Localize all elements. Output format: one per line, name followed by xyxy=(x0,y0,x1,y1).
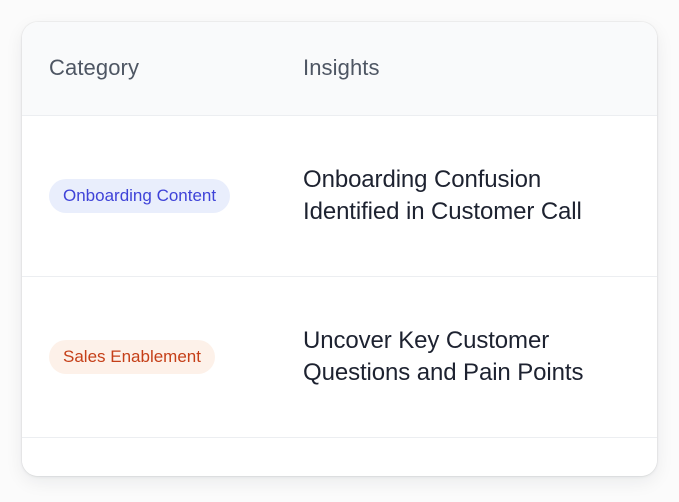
insight-title: Uncover Key Customer Questions and Pain … xyxy=(303,325,615,388)
table-row-empty xyxy=(22,438,657,476)
status-badge[interactable]: Onboarding Content xyxy=(49,179,230,213)
insight-title-line-1: Onboarding Confusion xyxy=(303,166,541,193)
column-header-category-label: Category xyxy=(49,55,139,80)
table-row[interactable]: Onboarding Content Onboarding Confusion … xyxy=(22,116,657,277)
insight-title: Onboarding Confusion Identified in Custo… xyxy=(303,164,615,227)
insights-card: Category Insights Onboarding Content Onb… xyxy=(22,22,657,476)
column-header-category: Category xyxy=(22,55,303,81)
insight-title-line-1: Uncover Key Customer xyxy=(303,327,549,354)
insight-title-line-2: Questions and Pain Points xyxy=(303,359,583,386)
table-row[interactable]: Sales Enablement Uncover Key Customer Qu… xyxy=(22,277,657,438)
cell-insight: Uncover Key Customer Questions and Pain … xyxy=(303,325,657,388)
cell-insight: Onboarding Confusion Identified in Custo… xyxy=(303,164,657,227)
insights-table: Category Insights Onboarding Content Onb… xyxy=(22,22,657,476)
status-badge[interactable]: Sales Enablement xyxy=(49,340,215,374)
cell-category: Sales Enablement xyxy=(22,340,303,374)
column-header-insights-label: Insights xyxy=(303,55,380,80)
page-root: Category Insights Onboarding Content Onb… xyxy=(0,0,679,502)
insight-title-line-2: Identified in Customer Call xyxy=(303,198,582,225)
cell-category: Onboarding Content xyxy=(22,179,303,213)
column-header-insights: Insights xyxy=(303,55,657,81)
table-header-row: Category Insights xyxy=(22,22,657,116)
